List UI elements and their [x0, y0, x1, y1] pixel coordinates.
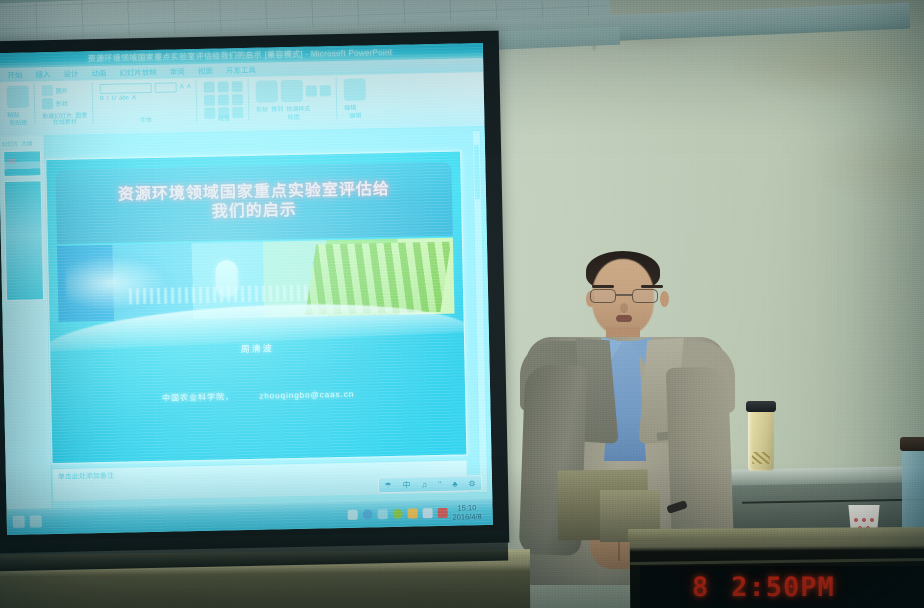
- vertical-scrollbar[interactable]: [472, 130, 489, 493]
- led-clock-panel: 8 2:50PM: [640, 566, 924, 608]
- shrink-font-icon[interactable]: A: [187, 84, 191, 90]
- ime-punctuation-icon[interactable]: ‛‛: [438, 479, 442, 488]
- presenter-eyebrow-left: [592, 285, 614, 288]
- slide-thumbnail-2[interactable]: [3, 180, 44, 301]
- projection-screen-surface: 资源环境领域国家重点实验室评估给我们的启示 [兼容模式] - Microsoft…: [0, 43, 493, 535]
- italic-icon[interactable]: I: [107, 96, 109, 102]
- notes-placeholder: 单击此处添加备注: [58, 473, 114, 481]
- slide-thumbnail-panel[interactable]: 幻灯片 大纲 资源: [0, 135, 52, 509]
- paste-icon[interactable]: [7, 86, 29, 108]
- ime-mode-chinese[interactable]: 中: [402, 479, 410, 490]
- tab-outline[interactable]: 大纲: [21, 139, 32, 147]
- tea-bottle-cap: [746, 401, 776, 412]
- led-day: 8: [692, 572, 709, 603]
- group-name-drawing: 绘图: [251, 111, 336, 122]
- system-tray: 15:10 2016/4/8: [347, 503, 493, 525]
- volume-icon[interactable]: [422, 508, 432, 518]
- ribbon-tab-insert[interactable]: 插入: [35, 69, 50, 80]
- arrange-icon[interactable]: [281, 80, 303, 102]
- underline-icon[interactable]: U: [112, 96, 116, 102]
- ribbon-tab-home[interactable]: 开始: [7, 69, 22, 80]
- ribbon-tab-view[interactable]: 视图: [198, 65, 213, 76]
- slide-title: 资源环境领域国家重点实验室评估给 我们的启示: [118, 181, 391, 224]
- quick-styles-icon[interactable]: [306, 85, 317, 96]
- current-slide[interactable]: 资源环境领域国家重点实验室评估给 我们的启示: [45, 150, 467, 464]
- ime-halfwidth-icon[interactable]: ♫: [421, 480, 427, 489]
- ime-settings-icon[interactable]: ⚙: [468, 479, 475, 488]
- ime-logo-icon[interactable]: ☂: [384, 480, 391, 489]
- shield-icon[interactable]: [362, 509, 372, 519]
- grow-font-icon[interactable]: A: [180, 84, 184, 90]
- indent-icon[interactable]: [232, 81, 243, 92]
- ribbon-group-editing: 编辑 编辑: [339, 76, 372, 119]
- banner-hand-graphic: [65, 249, 177, 315]
- align-right-icon[interactable]: [232, 94, 243, 105]
- bullets-icon[interactable]: [204, 82, 215, 93]
- strikethrough-icon[interactable]: abe: [119, 95, 129, 101]
- font-name-input[interactable]: [100, 83, 152, 94]
- projection-screen-frame: 资源环境领域国家重点实验室评估给我们的启示 [兼容模式] - Microsoft…: [0, 31, 509, 554]
- display-icon[interactable]: [437, 508, 447, 518]
- ribbon-tab-developer[interactable]: 开发工具: [226, 64, 256, 76]
- slide-thumbnail-1[interactable]: 资源: [2, 150, 41, 177]
- slide-affiliation: 中国农业科学院，: [162, 392, 234, 403]
- podium-edge-line: [630, 558, 924, 565]
- presenter-mouth: [616, 315, 632, 322]
- thumbnail-title-fragment: 资源: [7, 158, 16, 165]
- new-slide-icon[interactable]: [42, 85, 53, 96]
- update-icon[interactable]: [392, 509, 402, 519]
- glasses-bridge: [616, 294, 632, 296]
- find-icon[interactable]: [344, 78, 366, 100]
- network-icon[interactable]: [377, 509, 387, 519]
- volume-mute-icon[interactable]: [407, 508, 417, 518]
- ribbon-group-slides: 图片 形状 新建幻灯片 图表 在线素材: [37, 82, 94, 125]
- presenter-eyebrow-right: [641, 285, 663, 288]
- scrollbar-thumb[interactable]: [474, 145, 480, 199]
- font-color-icon[interactable]: A: [132, 95, 136, 101]
- insert-picture-label[interactable]: 图片: [56, 86, 68, 95]
- align-left-icon[interactable]: [204, 95, 215, 106]
- picture-icon[interactable]: [347, 510, 357, 520]
- ribbon-group-clipboard: 粘贴 剪贴板: [2, 83, 36, 126]
- presenter-arm-right: [666, 366, 734, 554]
- ribbon-group-paragraph: 段落: [199, 79, 250, 122]
- shape-fill-icon[interactable]: [320, 85, 331, 96]
- taskbar-item-powerpoint[interactable]: [30, 515, 42, 527]
- presenter-nose: [620, 303, 628, 313]
- insert-shape-label[interactable]: 形状: [56, 99, 68, 108]
- layout-icon[interactable]: [42, 98, 53, 109]
- start-button-icon[interactable]: [13, 516, 25, 528]
- slide-title-band[interactable]: 资源环境领域国家重点实验室评估给 我们的启示: [55, 162, 452, 244]
- group-name-editing: 编辑: [339, 110, 371, 120]
- glasses-icon: [590, 289, 658, 303]
- slide-affiliation-line: 中国农业科学院， zhouqingbo@caas.cn: [51, 386, 465, 406]
- ribbon-tab-review[interactable]: 审阅: [170, 66, 185, 77]
- editor-body: 幻灯片 大纲 资源 资源环境领域国家重点实验室评估给: [0, 126, 492, 509]
- align-center-icon[interactable]: [218, 94, 229, 105]
- glasses-lens-left: [590, 289, 616, 303]
- powerpoint-window: 资源环境领域国家重点实验室评估给我们的启示 [兼容模式] - Microsoft…: [0, 43, 493, 535]
- ime-softkeyboard-icon[interactable]: ♣: [452, 479, 457, 488]
- ribbon-tab-animation[interactable]: 动画: [91, 67, 106, 78]
- font-size-input[interactable]: [155, 82, 177, 92]
- tab-slides[interactable]: 幻灯片: [2, 140, 19, 148]
- group-name-slides: 在线素材: [37, 116, 92, 126]
- group-name-paragraph: 段落: [199, 113, 248, 123]
- ribbon-group-font: A A B I U abe A 字体: [95, 80, 198, 124]
- glasses-lens-right: [632, 289, 658, 303]
- ribbon-tab-design[interactable]: 设计: [63, 68, 78, 79]
- presenter-ear-right: [660, 291, 669, 307]
- numbering-icon[interactable]: [218, 81, 229, 92]
- podium-top-surface: [628, 527, 924, 541]
- slide-email: zhouqingbo@caas.cn: [259, 390, 354, 401]
- taskbar-clock[interactable]: 15:10 2016/4/8: [452, 503, 488, 522]
- thermos-cap: [900, 437, 924, 451]
- banner-binary-digits: [129, 285, 311, 305]
- bold-icon[interactable]: B: [100, 96, 104, 102]
- photo-scene: 资源环境领域国家重点实验室评估给我们的启示 [兼容模式] - Microsoft…: [0, 0, 924, 608]
- led-time: 2:50PM: [731, 572, 835, 603]
- ime-floating-bar[interactable]: ☂ 中 ♫ ‛‛ ♣ ⚙: [378, 475, 482, 493]
- ribbon-tab-slideshow[interactable]: 幻灯片放映: [119, 66, 157, 78]
- ribbon-group-drawing: 形状 排列 快速样式 绘图: [251, 77, 338, 121]
- tea-leaves: [752, 452, 770, 464]
- slide-canvas-area: 资源环境领域国家重点实验室评估给 我们的启示: [45, 128, 469, 504]
- taskbar-buttons: [7, 515, 42, 528]
- group-name-font: 字体: [95, 114, 196, 125]
- group-name-clipboard: 剪贴板: [2, 117, 34, 127]
- thumbnail-tabs: 幻灯片 大纲: [2, 139, 41, 148]
- shapes-gallery-icon[interactable]: [256, 80, 278, 102]
- clock-date: 2016/4/8: [452, 512, 481, 522]
